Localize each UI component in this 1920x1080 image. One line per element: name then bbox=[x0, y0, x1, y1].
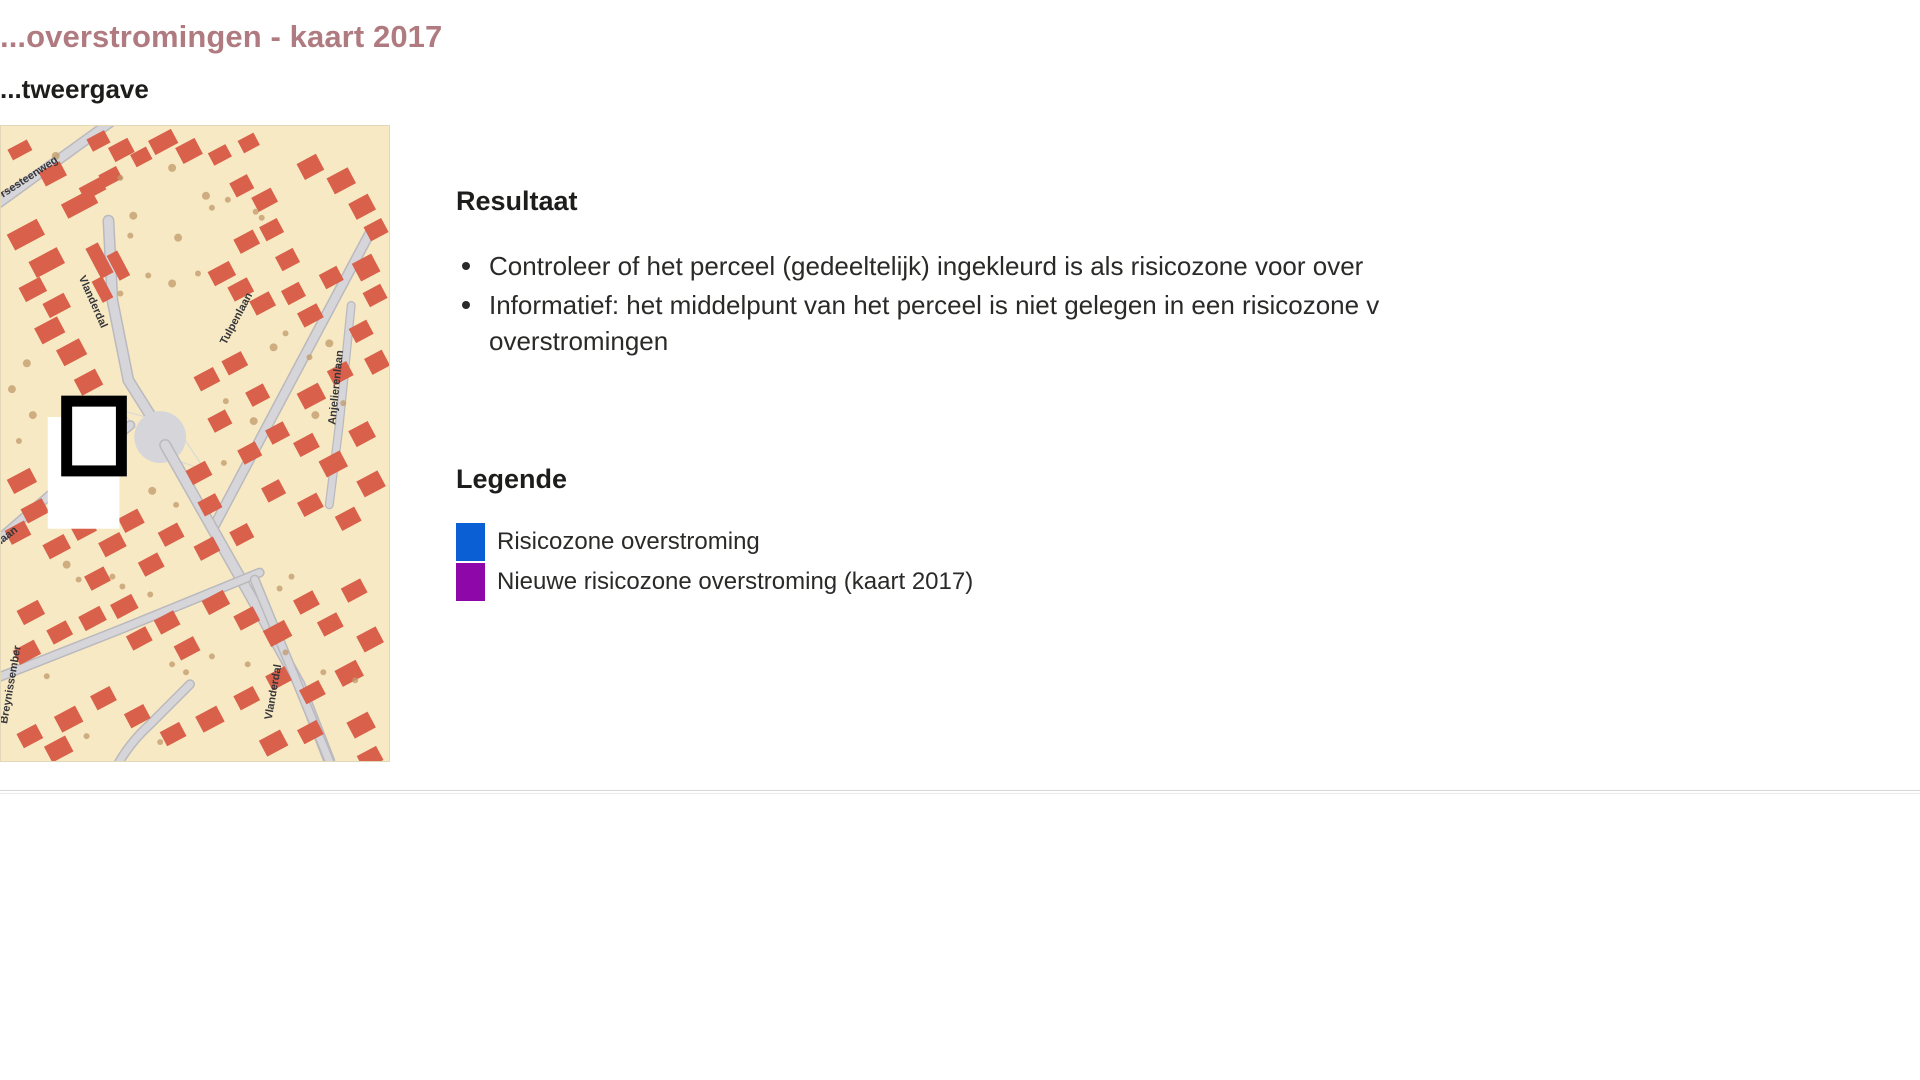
result-column: Resultaat Controleer of het perceel (ged… bbox=[390, 125, 1920, 602]
legend-list: Risicozone overstroming Nieuwe risicozon… bbox=[456, 522, 1920, 602]
legend-item-nieuwe-risicozone: Nieuwe risicozone overstroming (kaart 20… bbox=[456, 562, 1920, 602]
result-item: Informatief: het middelpunt van het perc… bbox=[456, 287, 1920, 361]
result-item-text-cont: overstromingen bbox=[489, 326, 668, 356]
result-item: Controleer of het perceel (gedeeltelijk)… bbox=[456, 248, 1920, 285]
bullet-icon bbox=[462, 262, 470, 270]
legend-item-label: Nieuwe risicozone overstroming (kaart 20… bbox=[485, 570, 973, 594]
section-divider bbox=[0, 790, 1920, 791]
page-title: ...overstromingen - kaart 2017 bbox=[0, 0, 1920, 57]
legend-swatch-icon bbox=[456, 563, 485, 601]
legend-heading: Legende bbox=[456, 463, 1920, 495]
legend-swatch-icon bbox=[456, 523, 485, 561]
legend-item-label: Risicozone overstroming bbox=[485, 530, 760, 554]
legend-item-risicozone: Risicozone overstroming bbox=[456, 522, 1920, 562]
section-divider-shadow bbox=[0, 793, 1920, 794]
content-row: .bld { fill: #d9604a; } .bld2 { fill: #c… bbox=[0, 125, 1920, 762]
result-list: Controleer of het perceel (gedeeltelijk)… bbox=[456, 248, 1920, 361]
map-thumbnail[interactable]: .bld { fill: #d9604a; } .bld2 { fill: #c… bbox=[0, 125, 390, 762]
document-content: ...overstromingen - kaart 2017 ...tweerg… bbox=[0, 0, 1920, 762]
bullet-icon bbox=[462, 301, 470, 309]
map-canvas: .bld { fill: #d9604a; } .bld2 { fill: #c… bbox=[1, 126, 389, 761]
parcel-highlight bbox=[48, 401, 122, 529]
subsection-title: ...tweergave bbox=[0, 57, 1920, 106]
result-item-text: Controleer of het perceel (gedeeltelijk)… bbox=[489, 251, 1363, 281]
page-root: ...overstromingen - kaart 2017 ...tweerg… bbox=[0, 0, 1920, 1080]
result-item-text: Informatief: het middelpunt van het perc… bbox=[489, 290, 1379, 320]
result-heading: Resultaat bbox=[456, 185, 1920, 217]
